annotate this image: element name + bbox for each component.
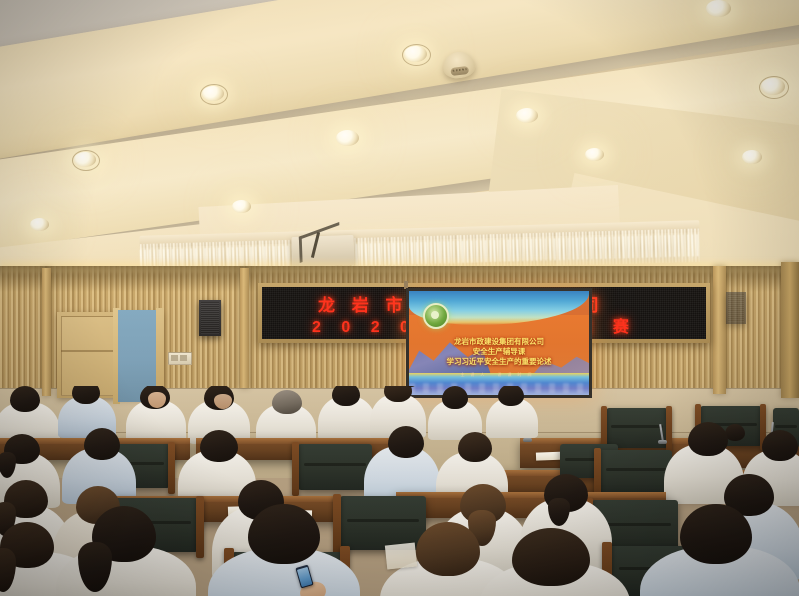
downlight-ring xyxy=(200,84,228,105)
wall-pillar xyxy=(42,268,51,396)
chair-frame xyxy=(292,442,299,496)
downlight-icon xyxy=(336,130,359,146)
downlight-icon xyxy=(516,108,538,123)
slide-title-line1: 龙岩市政建设集团有限公司 xyxy=(409,337,589,346)
downlight-ring xyxy=(72,150,100,171)
slide-title-line2: 安全生产辅导课 xyxy=(409,347,589,356)
audience-chair[interactable] xyxy=(600,450,672,494)
head-rest-cushion xyxy=(725,424,745,441)
chair-frame xyxy=(196,496,204,558)
wall-pillar xyxy=(713,266,726,394)
chair-frame xyxy=(168,442,175,494)
document-on-desk xyxy=(385,542,417,569)
wall-pillar xyxy=(240,268,249,388)
slide-title-line3: 学习习近平安全生产的重要论述 xyxy=(409,357,589,366)
microphone-base xyxy=(658,440,667,444)
meeting-hall-photo: 龙 岩 市 2 0 2 0 年 公 司 能 竞 赛 龙岩市政建设集团有限公司 安… xyxy=(0,0,799,596)
slide-credit-line: 主讲人 讲课时间 xyxy=(409,372,589,378)
audience-hall xyxy=(0,386,799,596)
speaker-grille xyxy=(201,302,219,334)
wall-speaker-right xyxy=(726,292,746,324)
downlight-icon xyxy=(30,218,49,231)
desk-surface xyxy=(396,492,666,498)
downlight-icon xyxy=(585,148,604,161)
chair-frame xyxy=(666,406,672,452)
projection-screen: 龙岩市政建设集团有限公司 安全生产辅导课 学习习近平安全生产的重要论述 主讲人 … xyxy=(406,288,592,398)
downlight-ring xyxy=(402,44,431,66)
downlight-icon xyxy=(232,200,251,213)
audience-chair[interactable] xyxy=(298,444,372,490)
microphone-base xyxy=(523,438,532,442)
speaker-grille xyxy=(728,294,744,322)
downlight-ring xyxy=(759,76,789,99)
company-logo-icon xyxy=(423,303,449,329)
downlight-icon xyxy=(706,0,731,17)
wall-speaker-left xyxy=(199,300,221,336)
light-switch-plate[interactable] xyxy=(168,352,192,365)
wall-corner-pillar xyxy=(781,262,799,398)
downlight-icon xyxy=(742,150,762,164)
